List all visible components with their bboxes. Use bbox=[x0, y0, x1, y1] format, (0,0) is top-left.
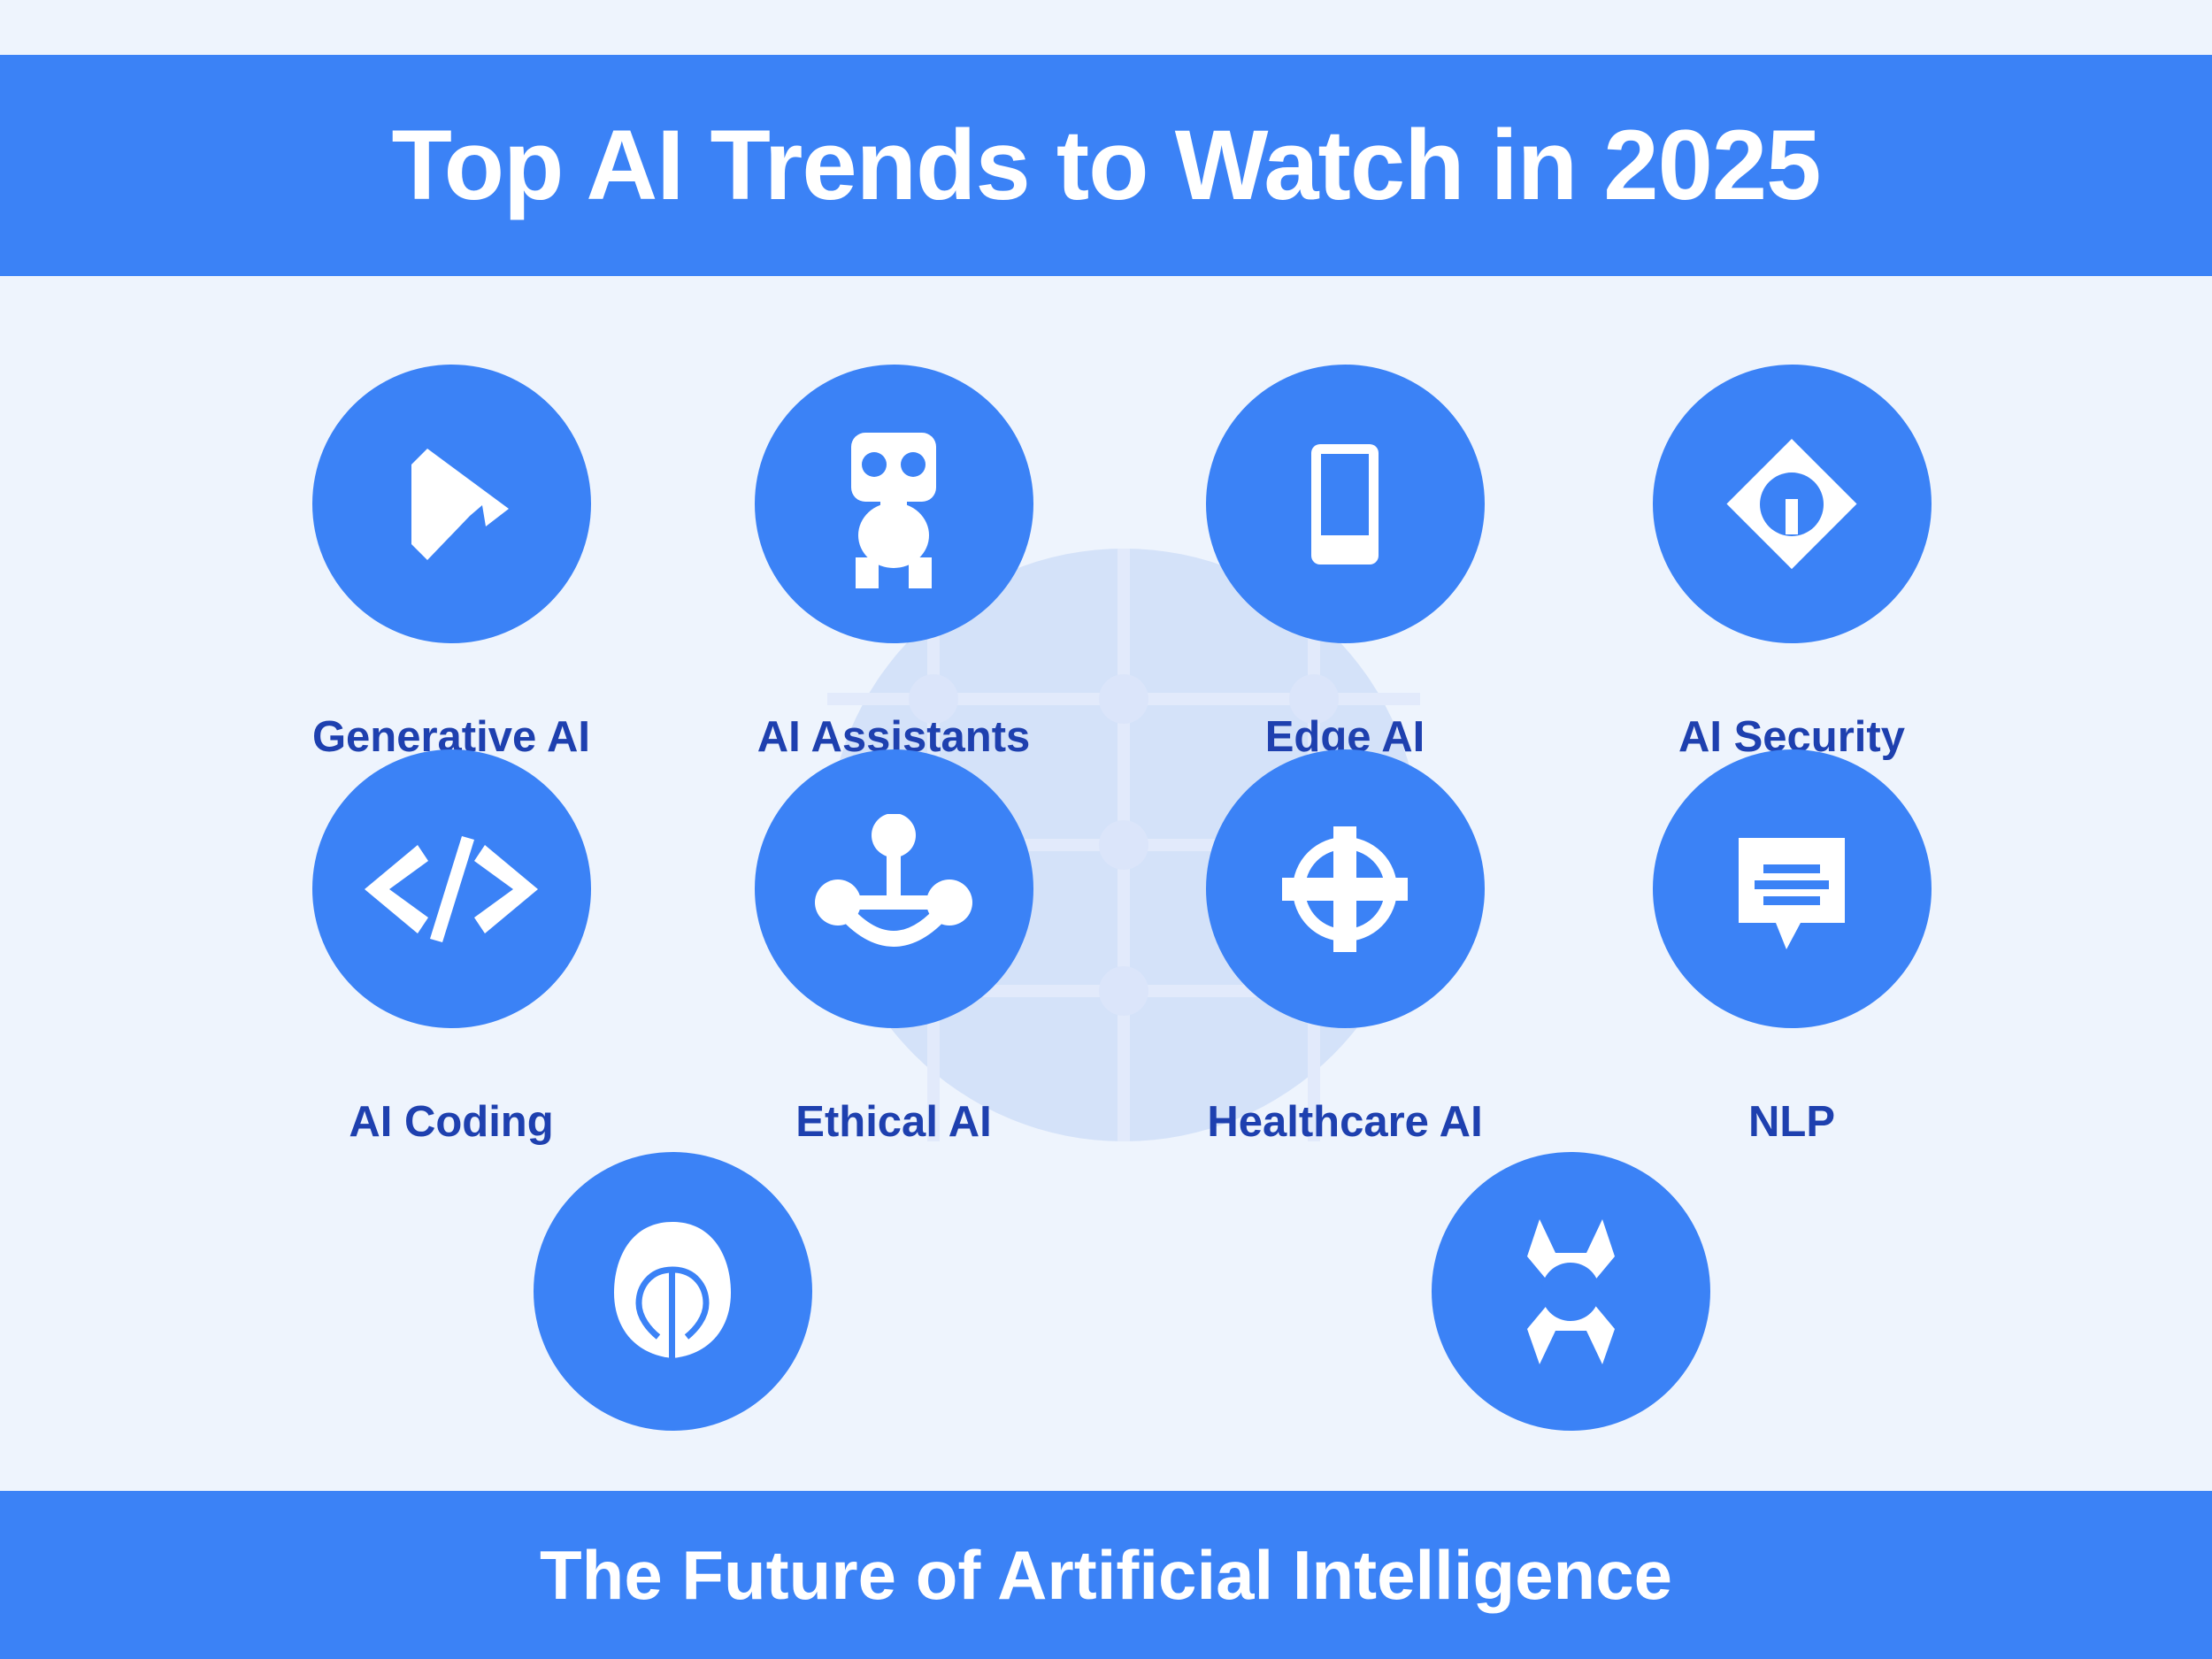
icon-circle bbox=[1653, 365, 1932, 643]
trend-label: Healthcare AI bbox=[1150, 1101, 1540, 1144]
icon-circle bbox=[312, 365, 591, 643]
medical-cross-icon bbox=[1270, 814, 1420, 964]
page-title: Top AI Trends to Watch in 2025 bbox=[392, 116, 1821, 215]
trend-item-ai-assistants[interactable]: AI Assistants bbox=[699, 365, 1088, 759]
icon-circle bbox=[1653, 749, 1932, 1028]
trend-item-healthcare-ai[interactable]: Healthcare AI bbox=[1150, 749, 1540, 1144]
gear-icon bbox=[1494, 1214, 1648, 1369]
icon-circle bbox=[1206, 365, 1485, 643]
play-arrow-icon bbox=[376, 429, 526, 580]
speech-bubble-icon bbox=[1721, 818, 1863, 960]
robot-icon bbox=[810, 420, 978, 588]
code-brackets-icon bbox=[363, 827, 540, 951]
icon-circle bbox=[755, 365, 1033, 643]
trend-item-ai-sustainability[interactable]: AI Sustainability bbox=[478, 1152, 867, 1547]
trend-item-edge-ai[interactable]: Edge AI bbox=[1150, 365, 1540, 759]
trend-item-ai-security[interactable]: AI Security bbox=[1597, 365, 1986, 759]
trend-label: NLP bbox=[1597, 1101, 1986, 1144]
trend-item-nlp[interactable]: NLP bbox=[1597, 749, 1986, 1144]
icon-circle bbox=[755, 749, 1033, 1028]
icon-circle bbox=[1432, 1152, 1710, 1431]
trend-label: Ethical AI bbox=[699, 1101, 1088, 1144]
leaf-icon bbox=[602, 1217, 743, 1367]
header-banner: Top AI Trends to Watch in 2025 bbox=[0, 55, 2212, 276]
trend-item-ethical-ai[interactable]: Ethical AI bbox=[699, 749, 1088, 1144]
trend-item-ai-coding[interactable]: AI Coding bbox=[257, 749, 646, 1144]
icon-circle bbox=[312, 749, 591, 1028]
shield-diamond-icon bbox=[1712, 425, 1871, 584]
smartphone-icon bbox=[1274, 434, 1416, 575]
icon-circle bbox=[534, 1152, 812, 1431]
trend-item-generative-ai[interactable]: Generative AI bbox=[257, 365, 646, 759]
icon-circle bbox=[1206, 749, 1485, 1028]
infographic-canvas: Top AI Trends to Watch in 2025 bbox=[0, 0, 2212, 1659]
footer-banner: The Future of Artificial Intelligence bbox=[0, 1491, 2212, 1659]
top-background-strip bbox=[0, 0, 2212, 55]
footer-tagline: The Future of Artificial Intelligence bbox=[540, 1540, 1672, 1609]
balance-scale-icon bbox=[810, 814, 978, 964]
trend-label: AI Coding bbox=[257, 1101, 646, 1144]
trend-item-job-automation[interactable]: Job Automation bbox=[1376, 1152, 1765, 1547]
